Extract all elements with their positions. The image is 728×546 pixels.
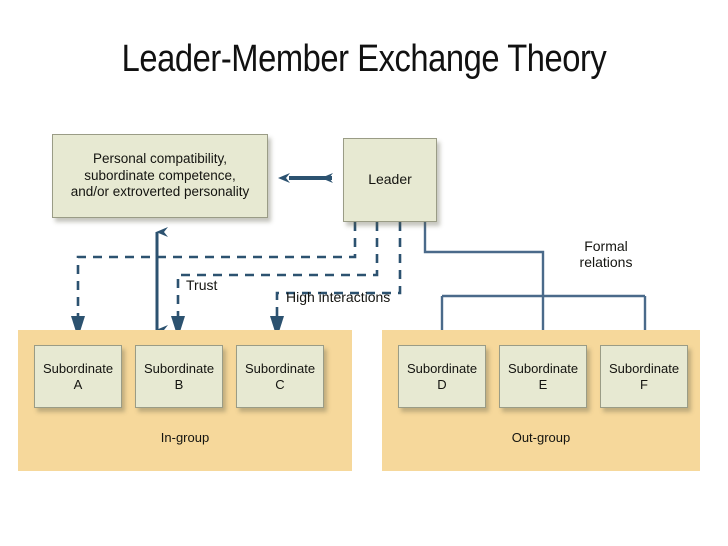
node-antecedent-factors[interactable]: Personal compatibility, subordinate comp… xyxy=(52,134,268,218)
out-group-label: Out-group xyxy=(382,430,700,445)
edge-label-trust: Trust xyxy=(186,277,217,293)
subordinate-f-line-2: F xyxy=(640,377,648,393)
factors-line-3: and/or extroverted personality xyxy=(71,184,250,200)
factors-line-2: subordinate competence, xyxy=(84,168,236,184)
in-group-label: In-group xyxy=(18,430,352,445)
subordinate-c-line-1: Subordinate xyxy=(245,361,315,377)
node-subordinate-a[interactable]: Subordinate A xyxy=(34,345,122,408)
leader-label: Leader xyxy=(368,171,412,188)
subordinate-b-line-2: B xyxy=(175,377,184,393)
node-subordinate-b[interactable]: Subordinate B xyxy=(135,345,223,408)
node-leader[interactable]: Leader xyxy=(343,138,437,222)
subordinate-d-line-1: Subordinate xyxy=(407,361,477,377)
subordinate-c-line-2: C xyxy=(275,377,284,393)
formal-relations-line-1: Formal xyxy=(584,238,628,254)
edge-label-formal-relations: Formal relations xyxy=(564,238,648,270)
node-subordinate-f[interactable]: Subordinate F xyxy=(600,345,688,408)
edge-label-high-interactions: High interactions xyxy=(286,289,390,305)
formal-relations-line-2: relations xyxy=(580,254,633,270)
subordinate-e-line-1: Subordinate xyxy=(508,361,578,377)
subordinate-b-line-1: Subordinate xyxy=(144,361,214,377)
subordinate-a-line-2: A xyxy=(74,377,83,393)
slide-canvas: Leader-Member Exchange Theory xyxy=(0,0,728,546)
subordinate-d-line-2: D xyxy=(437,377,446,393)
factors-line-1: Personal compatibility, xyxy=(93,151,227,167)
node-subordinate-d[interactable]: Subordinate D xyxy=(398,345,486,408)
subordinate-e-line-2: E xyxy=(539,377,548,393)
subordinate-a-line-1: Subordinate xyxy=(43,361,113,377)
subordinate-f-line-1: Subordinate xyxy=(609,361,679,377)
node-subordinate-c[interactable]: Subordinate C xyxy=(236,345,324,408)
node-subordinate-e[interactable]: Subordinate E xyxy=(499,345,587,408)
